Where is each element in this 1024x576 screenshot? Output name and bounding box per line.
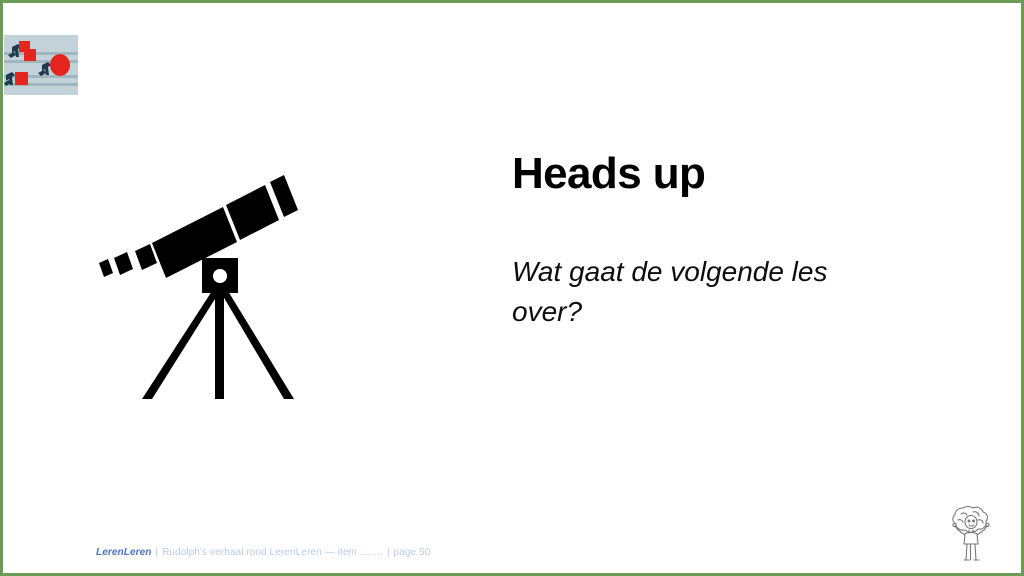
telescope-icon <box>96 163 328 401</box>
footer-brand-label: LerenLeren <box>96 547 151 558</box>
footer-separator: | <box>151 547 162 558</box>
slide-footer: LerenLeren|Rudolph's verhaal rond LerenL… <box>96 547 430 559</box>
slide-body-text: Wat gaat de volgende les over? <box>512 252 882 332</box>
mascot-figure <box>951 504 991 562</box>
presentation-slide: Heads up Wat gaat de volgende les over? … <box>0 0 1024 576</box>
slide-text-column: Heads up Wat gaat de volgende les over? <box>512 150 952 332</box>
footer-page-number: page 50 <box>394 547 431 558</box>
brand-logo-image <box>4 35 78 95</box>
curly-hair-person-icon <box>951 504 991 562</box>
footer-description: Rudolph's verhaal rond LerenLeren — item… <box>162 547 383 558</box>
footer-separator: | <box>383 547 394 558</box>
page-title: Heads up <box>512 150 952 198</box>
telescope-illustration <box>96 163 328 401</box>
logo-graphic-icon <box>4 35 78 95</box>
